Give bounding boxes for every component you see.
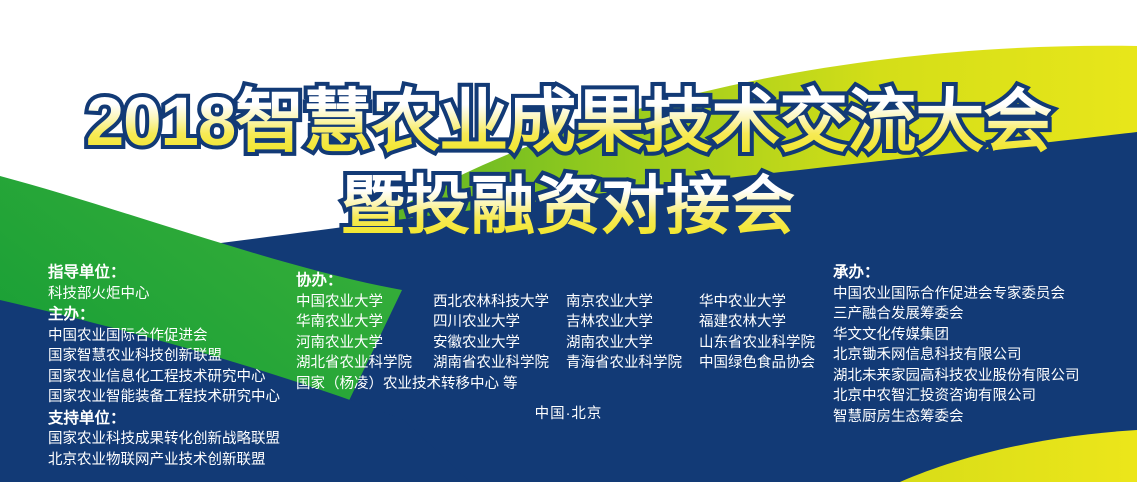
co-organizer-item: 四川农业大学 (433, 312, 566, 333)
guidance-unit-heading: 指导单位： (48, 262, 280, 284)
co-organizer-item: 青海省农业科学院 (566, 353, 699, 374)
co-organizer-item: 山东省农业科学院 (699, 333, 839, 354)
host-item: 国家智慧农业科技创新联盟 (48, 346, 280, 367)
undertaker-item: 三产融合发展筹委会 (833, 304, 1080, 325)
co-organizer-item: 华中农业大学 (699, 292, 839, 313)
support-unit-item: 北京农业物联网产业技术创新联盟 (48, 450, 280, 471)
co-organizer-item: 中国绿色食品协会 (699, 353, 839, 374)
host-item: 中国农业国际合作促进会 (48, 326, 280, 347)
co-organizer-row: 河南农业大学 安徽农业大学 湖南农业大学 山东省农业科学院 (296, 333, 839, 354)
co-organizer-item: 福建农林大学 (699, 312, 839, 333)
undertaker-item: 中国农业国际合作促进会专家委员会 (833, 284, 1080, 305)
co-organizer-row: 华南农业大学 四川农业大学 吉林农业大学 福建农林大学 (296, 312, 839, 333)
undertaker-item: 湖北未来家园高科技农业股份有限公司 (833, 366, 1080, 387)
co-organizer-row: 湖北省农业科学院 湖南省农业科学院 青海省农业科学院 中国绿色食品协会 (296, 353, 839, 374)
undertaker-item: 华文文化传媒集团 (833, 325, 1080, 346)
co-organizer-item: 湖北省农业科学院 (296, 353, 433, 374)
undertaker-item: 北京锄禾网信息科技有限公司 (833, 345, 1080, 366)
undertaker-heading: 承办： (833, 262, 1080, 284)
host-item: 国家农业信息化工程技术研究中心 (48, 367, 280, 388)
event-poster: 2018智慧农业成果技术交流大会 2018智慧农业成果技术交流大会 暨投融资对接… (0, 0, 1137, 482)
co-organizer-item: 西北农林科技大学 (433, 292, 566, 313)
guidance-unit-item: 科技部火炬中心 (48, 284, 280, 305)
co-organizer-heading: 协办： (296, 270, 839, 292)
co-organizer-item: 河南农业大学 (296, 333, 433, 354)
co-organizer-item: 南京农业大学 (566, 292, 699, 313)
co-organizer-row: 中国农业大学 西北农林科技大学 南京农业大学 华中农业大学 (296, 292, 839, 313)
co-organizer-item: 吉林农业大学 (566, 312, 699, 333)
co-organizer-last-line: 国家（杨凌）农业技术转移中心 等 (296, 374, 839, 395)
host-heading: 主办： (48, 304, 280, 326)
co-organizer-item: 安徽农业大学 (433, 333, 566, 354)
co-organizer-item: 中国农业大学 (296, 292, 433, 313)
organizers-left-column: 指导单位： 科技部火炬中心 主办： 中国农业国际合作促进会 国家智慧农业科技创新… (48, 262, 280, 470)
co-organizer-item: 华南农业大学 (296, 312, 433, 333)
co-organizer-item: 湖南省农业科学院 (433, 353, 566, 374)
venue-text: 中国·北京 (0, 402, 1137, 423)
co-organizers-column: 协办： 中国农业大学 西北农林科技大学 南京农业大学 华中农业大学 华南农业大学… (296, 270, 839, 394)
co-organizer-grid: 中国农业大学 西北农林科技大学 南京农业大学 华中农业大学 华南农业大学 四川农… (296, 292, 839, 395)
support-unit-item: 国家农业科技成果转化创新战略联盟 (48, 429, 280, 450)
co-organizer-item: 湖南农业大学 (566, 333, 699, 354)
